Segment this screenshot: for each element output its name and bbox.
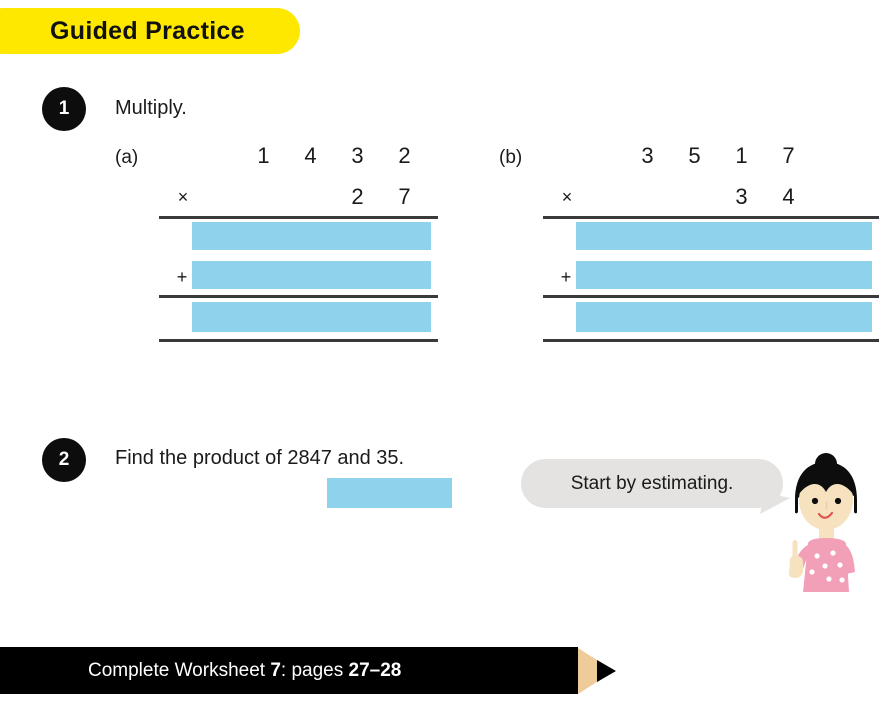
rule-middle-b [543, 295, 879, 298]
question-1-prompt: Multiply. [115, 97, 187, 120]
digit: 3 [334, 143, 381, 169]
rule-bottom-a [159, 339, 438, 342]
add-operator-a: + [173, 267, 191, 288]
partial-product-box-2-b[interactable] [576, 261, 872, 289]
footer-prefix: Complete Worksheet [88, 660, 270, 681]
multiplier-row-b: 3 4 [624, 184, 812, 210]
add-operator-b: + [557, 267, 575, 288]
multiplicand-row-b: 3 5 1 7 [624, 143, 812, 169]
digit: 3 [624, 143, 671, 169]
footer-worksheet-number: 7 [270, 660, 281, 681]
multiply-operator-b: × [558, 187, 576, 208]
character-illustration-girl [772, 452, 877, 612]
digit: 1 [718, 143, 765, 169]
worksheet-footer-banner: Complete Worksheet 7: pages 27–28 [0, 647, 578, 694]
question-1-number: 1 [59, 98, 70, 120]
digit: 5 [671, 143, 718, 169]
speech-bubble-text: Start by estimating. [571, 473, 734, 495]
rule-bottom-b [543, 339, 879, 342]
digit: 4 [287, 143, 334, 169]
partial-product-box-2-a[interactable] [192, 261, 431, 289]
digit [240, 184, 287, 210]
pencil-graphite-tip-icon [597, 660, 616, 682]
digit [287, 184, 334, 210]
rule-top-b [543, 216, 879, 219]
partial-product-box-1-b[interactable] [576, 222, 872, 250]
digit: 7 [381, 184, 428, 210]
footer-text: Complete Worksheet 7: pages 27–28 [88, 660, 401, 682]
multiplier-row-a: 2 7 [240, 184, 428, 210]
digit: 1 [240, 143, 287, 169]
digit: 7 [765, 143, 812, 169]
part-label-b: (b) [499, 147, 522, 169]
question-2-answer-box[interactable] [327, 478, 452, 508]
product-box-b[interactable] [576, 302, 872, 332]
question-2-prompt: Find the product of 2847 and 35. [115, 447, 404, 470]
speech-bubble: Start by estimating. [521, 459, 783, 508]
product-box-a[interactable] [192, 302, 431, 332]
rule-middle-a [159, 295, 438, 298]
digit [624, 184, 671, 210]
multiply-operator-a: × [174, 187, 192, 208]
digit [671, 184, 718, 210]
digit: 2 [334, 184, 381, 210]
question-2-number: 2 [59, 449, 70, 471]
digit: 3 [718, 184, 765, 210]
footer-pages: 27–28 [349, 660, 402, 681]
partial-product-box-1-a[interactable] [192, 222, 431, 250]
digit: 2 [381, 143, 428, 169]
rule-top-a [159, 216, 438, 219]
digit: 4 [765, 184, 812, 210]
girl-pointing-up-icon [772, 452, 877, 612]
question-2-badge: 2 [42, 438, 86, 482]
multiplicand-row-a: 1 4 3 2 [240, 143, 428, 169]
guided-practice-banner: Guided Practice [0, 8, 300, 54]
page-title: Guided Practice [50, 17, 245, 46]
question-1-badge: 1 [42, 87, 86, 131]
multiplication-problem-b: (b) 3 5 1 7 × 3 4 + [499, 143, 829, 353]
multiplication-problem-a: (a) 1 4 3 2 × 2 7 + [115, 143, 445, 353]
part-label-a: (a) [115, 147, 138, 169]
footer-middle: : pages [281, 660, 349, 681]
